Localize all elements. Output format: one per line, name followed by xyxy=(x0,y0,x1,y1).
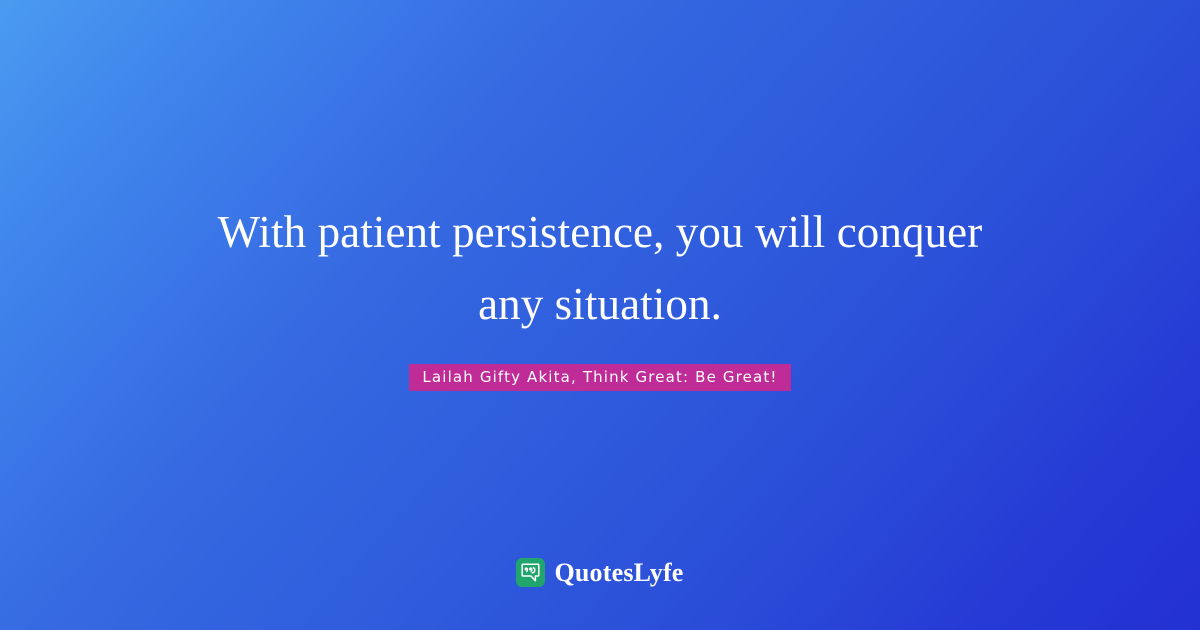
attribution-row: Lailah Gifty Akita, Think Great: Be Grea… xyxy=(0,364,1200,391)
quote-card: With patient persistence, you will conqu… xyxy=(0,0,1200,630)
attribution-badge: Lailah Gifty Akita, Think Great: Be Grea… xyxy=(409,364,790,391)
brand-logo[interactable]: QuotesLyfe xyxy=(0,558,1200,587)
quote-text: With patient persistence, you will conqu… xyxy=(185,196,1015,340)
quote-block: With patient persistence, you will conqu… xyxy=(0,196,1200,340)
brand-name: QuotesLyfe xyxy=(554,558,683,587)
quote-bubble-icon xyxy=(516,558,545,587)
